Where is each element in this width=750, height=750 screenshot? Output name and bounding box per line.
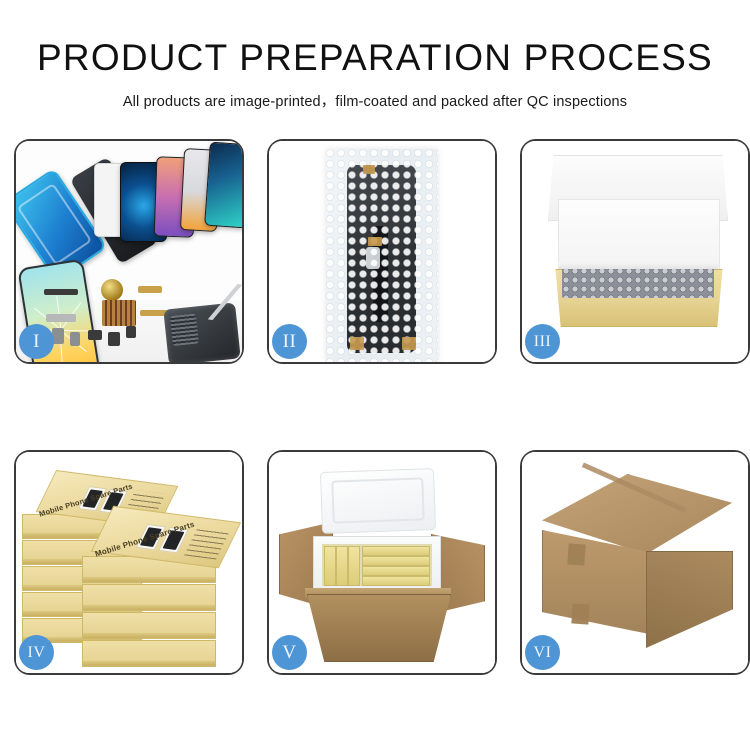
bubble-wrapped-screen-illustration bbox=[269, 141, 495, 362]
step-badge-3: III bbox=[525, 324, 560, 359]
phones-and-parts-illustration bbox=[16, 141, 242, 362]
stacked-box-front-4 bbox=[82, 640, 216, 667]
carton-with-foam-cooler-illustration bbox=[269, 452, 495, 673]
small-part-b bbox=[70, 332, 80, 346]
step-image-5 bbox=[269, 452, 495, 673]
step-badge-1: I bbox=[19, 324, 54, 359]
small-part-e bbox=[126, 326, 136, 338]
retail-box-v-3 bbox=[348, 546, 360, 586]
step-badge-6: VI bbox=[525, 635, 560, 670]
process-step-panel-1[interactable]: I bbox=[14, 139, 244, 364]
lid-spec-lines-b bbox=[184, 528, 229, 559]
step-badge-4: IV bbox=[19, 635, 54, 670]
step-badge-2: II bbox=[272, 324, 307, 359]
foam-liner-rim bbox=[558, 262, 718, 269]
carton-body bbox=[307, 594, 451, 662]
process-step-panel-3[interactable]: III bbox=[520, 139, 750, 364]
stacked-retail-boxes-illustration: Mobile Phone Spare Parts Mobile Phone Sp… bbox=[16, 452, 242, 673]
gold-coil-part bbox=[101, 279, 123, 301]
process-step-panel-6[interactable]: VI bbox=[520, 450, 750, 675]
step-image-1 bbox=[16, 141, 242, 362]
tape-strip-4 bbox=[402, 337, 416, 350]
open-kraft-box-illustration bbox=[522, 141, 748, 362]
foam-cooler-lid bbox=[320, 468, 436, 534]
retail-box-v-1 bbox=[324, 546, 336, 586]
teal-swirl-phone bbox=[204, 142, 242, 229]
page-subtitle: All products are image-printed，film-coat… bbox=[0, 79, 750, 111]
carton-tape-upper bbox=[567, 543, 585, 565]
foam-cooler-contents bbox=[322, 544, 432, 586]
page-title: PRODUCT PREPARATION PROCESS bbox=[0, 0, 750, 79]
tape-strip-3 bbox=[350, 337, 364, 350]
step-image-6 bbox=[522, 452, 748, 673]
small-part-c bbox=[88, 330, 102, 340]
box-stack: Mobile Phone Spare Parts Mobile Phone Sp… bbox=[16, 452, 242, 673]
carton-tape-lower bbox=[571, 603, 589, 624]
carton-side-face bbox=[646, 551, 733, 648]
process-step-panel-5[interactable]: V bbox=[267, 450, 497, 675]
retail-box-h-3 bbox=[362, 566, 430, 576]
tape-strip-2 bbox=[368, 237, 382, 246]
small-part-d bbox=[108, 332, 120, 346]
bubble-texture bbox=[326, 149, 438, 362]
sealed-carton-illustration bbox=[522, 452, 748, 673]
bubble-wrap-bag bbox=[326, 149, 438, 362]
page-header: PRODUCT PREPARATION PROCESS All products… bbox=[0, 0, 750, 111]
bubble-wrapped-contents bbox=[562, 267, 714, 298]
retail-box-v-2 bbox=[336, 546, 348, 586]
process-step-grid: I II bbox=[14, 139, 736, 675]
chip-array-part bbox=[102, 300, 136, 326]
process-step-panel-2[interactable]: II bbox=[267, 139, 497, 364]
stacked-box-front-2 bbox=[82, 584, 216, 611]
tweezers-tool-icon bbox=[207, 280, 242, 325]
retail-box-h-1 bbox=[362, 546, 430, 556]
retail-box-h-2 bbox=[362, 556, 430, 566]
stacked-box-front-3 bbox=[82, 612, 216, 639]
bracket-part bbox=[46, 314, 76, 322]
step-image-3 bbox=[522, 141, 748, 362]
speaker-part bbox=[44, 289, 78, 295]
step-badge-5: V bbox=[272, 635, 307, 670]
retail-box-h-4 bbox=[362, 576, 430, 586]
step-image-4: Mobile Phone Spare Parts Mobile Phone Sp… bbox=[16, 452, 242, 673]
tape-strip-1 bbox=[363, 165, 375, 174]
flex-cable-part-a bbox=[138, 286, 162, 293]
step-image-2 bbox=[269, 141, 495, 362]
process-step-panel-4[interactable]: Mobile Phone Spare Parts Mobile Phone Sp… bbox=[14, 450, 244, 675]
